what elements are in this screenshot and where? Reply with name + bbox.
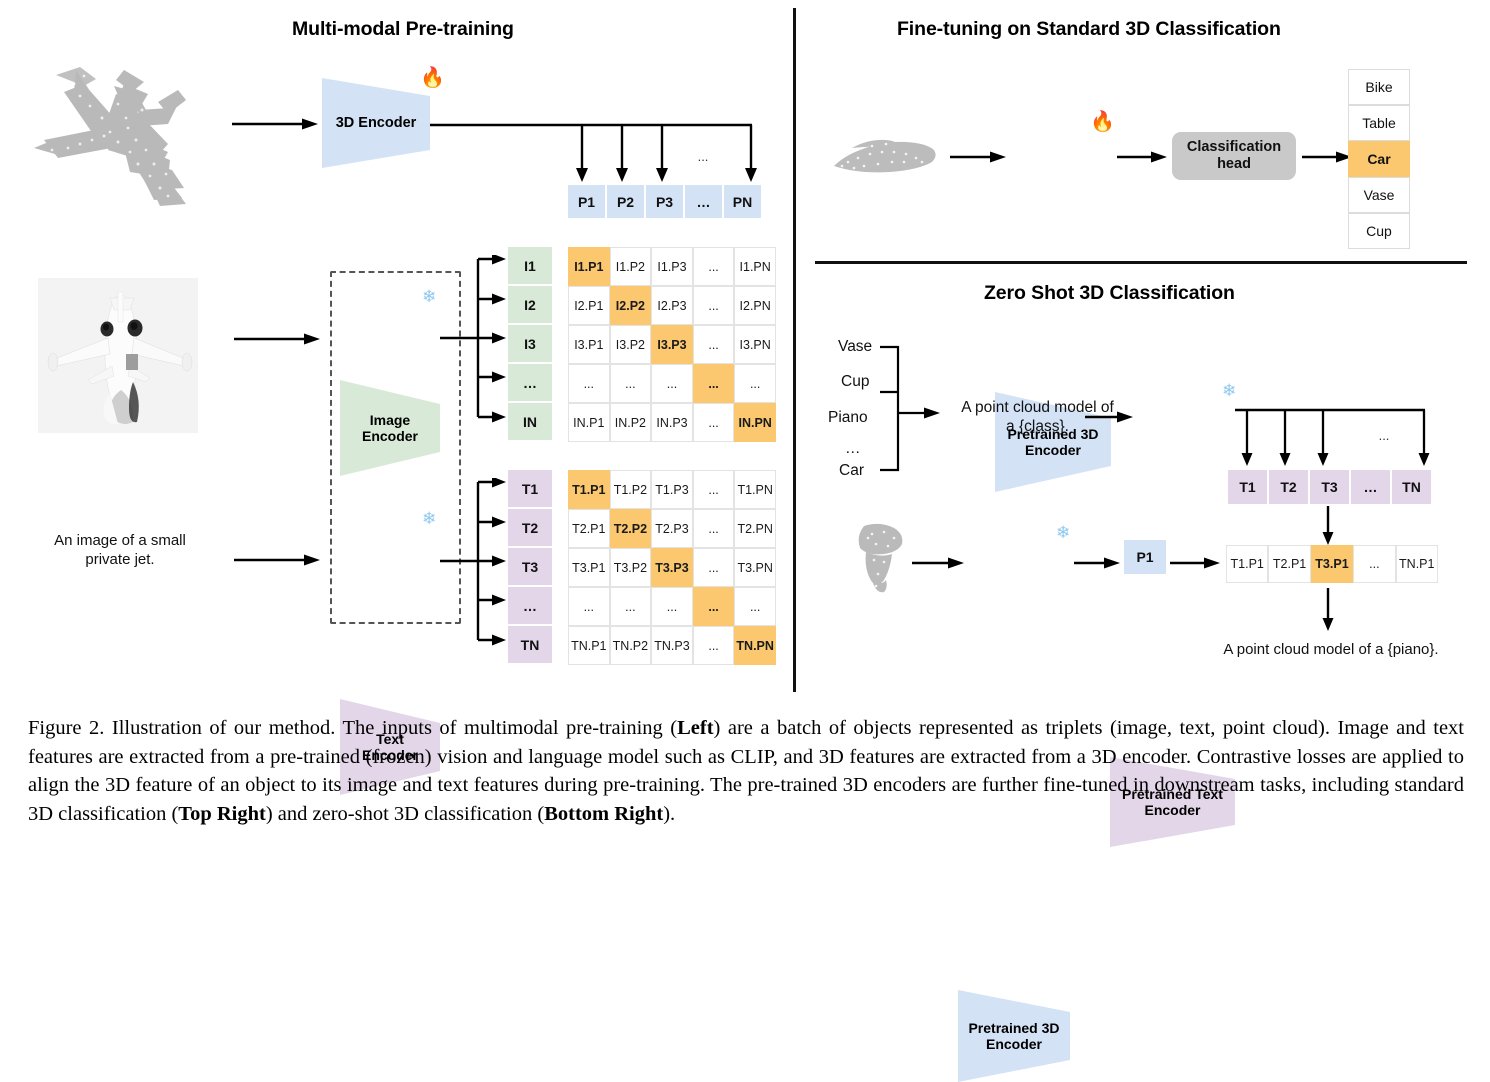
pfeature-cell: P1 (568, 185, 605, 218)
vertical-divider (793, 8, 796, 692)
text-encoder-label-line1: Text (362, 731, 418, 747)
matrix-row: I2.P1I2.P2I2.P3...I2.PN (568, 286, 776, 325)
text-point-similarity-matrix: T1.P1T1.P2T1.P3...T1.PNT2.P1T2.P2T2.P3..… (568, 470, 776, 665)
flame-icon: 🔥 (1090, 112, 1115, 132)
image-similarity-cell: I2.P1 (568, 286, 610, 325)
caption-emphasis: Left (677, 717, 713, 739)
arrow-pointcloud-to-3dencoder (232, 117, 318, 131)
zs-similarity-cell: T1.P1 (1226, 545, 1268, 583)
text-similarity-cell: T3.P1 (568, 548, 610, 587)
text-similarity-cell: T2.PN (734, 509, 776, 548)
matrix-row: T1.P1T1.P2T1.P3...T1.PN (568, 470, 776, 509)
pretrained-3d-encoder-block-zeroshot: Pretrained 3D Encoder (958, 990, 1070, 1082)
matrix-row: ............... (568, 587, 776, 626)
tfeature-cell: T3 (508, 548, 552, 585)
image-similarity-cell: ... (693, 325, 735, 364)
text-similarity-cell: ... (693, 470, 735, 509)
text-similarity-cell: T3.P2 (610, 548, 652, 587)
zs-tfeature-cell: T3 (1310, 470, 1349, 504)
horizontal-divider (815, 261, 1467, 264)
pfeature-cell: PN (724, 185, 761, 218)
piano-point-cloud (846, 520, 916, 596)
image-similarity-cell: ... (693, 247, 735, 286)
classification-output-list[interactable]: BikeTableCarVaseCup (1348, 69, 1410, 249)
image-similarity-cell: ... (610, 364, 652, 403)
text-similarity-cell: T1.PN (734, 470, 776, 509)
image-encoder-label-line1: Image (362, 412, 418, 428)
zs-class-label: … (845, 440, 861, 458)
classification-head-line2: head (1187, 156, 1281, 173)
image-similarity-cell: I2.PN (734, 286, 776, 325)
text-similarity-cell: ... (568, 587, 610, 626)
zs-3d-encoder-line1: Pretrained 3D (968, 1020, 1059, 1036)
airplane-point-cloud (18, 48, 223, 213)
image-similarity-cell: IN.P3 (651, 403, 693, 442)
matrix-row: ............... (568, 364, 776, 403)
image-similarity-cell: ... (693, 403, 735, 442)
image-similarity-cell: I3.PN (734, 325, 776, 364)
class-option[interactable]: Cup (1348, 213, 1410, 249)
ft-encoder-label-line2: Encoder (1007, 442, 1098, 458)
text-similarity-cell: TN.PN (734, 626, 776, 665)
text-similarity-cell: ... (693, 509, 735, 548)
class-option[interactable]: Car (1348, 141, 1410, 177)
text-similarity-cell: ... (651, 587, 693, 626)
zs-text-feature-row: T1 T2 T3 … TN (1228, 470, 1434, 504)
zs-class-label: Cup (841, 373, 869, 391)
zs-class-label: Car (839, 462, 864, 480)
pfeature-ellipsis: ... (690, 148, 716, 164)
text-similarity-cell: T2.P1 (568, 509, 610, 548)
tfeature-cell: T1 (508, 470, 552, 507)
image-similarity-cell: I3.P2 (610, 325, 652, 364)
zs-similarity-cell: TN.P1 (1396, 545, 1438, 583)
matrix-row: IN.P1IN.P2IN.P3...IN.PN (568, 403, 776, 442)
image-similarity-cell: IN.PN (734, 403, 776, 442)
matrix-row: T3.P1T3.P2T3.P3...T3.PN (568, 548, 776, 587)
caption-emphasis: Top Right (178, 803, 266, 825)
image-similarity-cell: I3.P3 (651, 325, 693, 364)
pfeature-cell: P3 (646, 185, 683, 218)
text-similarity-cell: T1.P1 (568, 470, 610, 509)
tfeature-cell: … (508, 587, 552, 624)
arrow-tfeatures-to-similarity (1320, 506, 1336, 546)
zs-similarity-cell: ... (1353, 545, 1395, 583)
image-similarity-cell: ... (568, 364, 610, 403)
zs-tfeature-cell: T2 (1269, 470, 1308, 504)
tfeature-cell: T2 (508, 509, 552, 546)
class-option[interactable]: Vase (1348, 177, 1410, 213)
caption-text: ). (663, 803, 675, 825)
text-similarity-cell: TN.P3 (651, 626, 693, 665)
ifeature-cell: I2 (508, 286, 552, 323)
image-encoder-label-line2: Encoder (362, 428, 418, 444)
zs-text-encoder-line1: Pretrained Text (1122, 786, 1223, 802)
zs-3d-encoder-line2: Encoder (968, 1036, 1059, 1052)
arrow-image-to-imageencoder (234, 332, 320, 346)
ft-encoder-label-line1: Pretrained 3D (1007, 426, 1098, 442)
matrix-row: I3.P1I3.P2I3.P3...I3.PN (568, 325, 776, 364)
classification-head-block: Classification head (1172, 132, 1296, 180)
figure-diagram: Multi-modal Pre-training (0, 0, 1490, 700)
text-similarity-cell: ... (693, 587, 735, 626)
pfeature-cell: P2 (607, 185, 644, 218)
ifeature-cell: … (508, 364, 552, 401)
image-encoder-block: Image Encoder (340, 380, 440, 476)
image-feature-column: I1 I2 I3 … IN (508, 247, 552, 440)
snowflake-icon: ❄ (422, 510, 436, 527)
text-encoder-block: Text Encoder (340, 699, 440, 795)
pretrained-text-encoder-block: Pretrained Text Encoder (1110, 757, 1235, 847)
zs-point-feature: P1 (1124, 540, 1166, 574)
figure-caption: Figure 2. Illustration of our method. Th… (28, 714, 1464, 828)
arrow-car-to-encoder (950, 150, 1006, 164)
arrow-similarity-to-result (1320, 588, 1336, 632)
text-feature-column: T1 T2 T3 … TN (508, 470, 552, 663)
image-similarity-cell: ... (734, 364, 776, 403)
class-option[interactable]: Bike (1348, 69, 1410, 105)
caption-text: ) and zero-shot 3D classification ( (266, 803, 544, 825)
fanout-textencoder-to-tfeatures (1235, 405, 1435, 473)
jet-render-image (38, 278, 198, 433)
text-similarity-cell: T1.P2 (610, 470, 652, 509)
matrix-row: T2.P1T2.P2T2.P3...T2.PN (568, 509, 776, 548)
snowflake-icon: ❄ (1056, 524, 1070, 541)
image-similarity-cell: I1.PN (734, 247, 776, 286)
text-similarity-cell: ... (610, 587, 652, 626)
image-similarity-cell: I2.P3 (651, 286, 693, 325)
pretrained-3d-encoder-block-finetune: Pretrained 3D Encoder (995, 392, 1111, 492)
text-similarity-cell: ... (734, 587, 776, 626)
bottom-right-title: Zero Shot 3D Classification (984, 282, 1235, 305)
ifeature-cell: IN (508, 403, 552, 440)
pfeature-cell: … (685, 185, 722, 218)
image-similarity-cell: ... (693, 364, 735, 403)
text-input-value: An image of a small private jet. (54, 532, 186, 568)
text-similarity-cell: T2.P2 (610, 509, 652, 548)
left-panel-title: Multi-modal Pre-training (292, 18, 514, 41)
image-point-similarity-matrix: I1.P1I1.P2I1.P3...I1.PNI2.P1I2.P2I2.P3..… (568, 247, 776, 442)
classification-head-line1: Classification (1187, 139, 1281, 156)
image-similarity-cell: I3.P1 (568, 325, 610, 364)
zs-tfeature-cell: … (1351, 470, 1390, 504)
arrow-text-to-textencoder (234, 553, 320, 567)
image-similarity-cell: ... (651, 364, 693, 403)
image-similarity-cell: I2.P2 (610, 286, 652, 325)
zs-text-encoder-line2: Encoder (1122, 802, 1223, 818)
zs-tfeature-cell: T1 (1228, 470, 1267, 504)
zs-similarity-cell: T2.P1 (1268, 545, 1310, 583)
zeroshot-result-text: A point cloud model of a {piano}. (1196, 641, 1466, 658)
matrix-row: I1.P1I1.P2I1.P3...I1.PN (568, 247, 776, 286)
zs-tfeature-cell: TN (1392, 470, 1431, 504)
zs-class-label: Vase (838, 338, 872, 356)
encoder-3d-label: 3D Encoder (322, 78, 430, 168)
arrow-encoder-to-head (1117, 150, 1167, 164)
car-point-cloud (828, 132, 938, 180)
image-similarity-cell: I1.P3 (651, 247, 693, 286)
arrow-head-to-classlist (1302, 150, 1352, 164)
image-similarity-cell: IN.P2 (610, 403, 652, 442)
text-similarity-cell: TN.P2 (610, 626, 652, 665)
text-similarity-cell: TN.P1 (568, 626, 610, 665)
text-encoder-label-line2: Encoder (362, 747, 418, 763)
ifeature-cell: I1 (508, 247, 552, 284)
zeroshot-similarity-row: T1.P1T2.P1T3.P1...TN.P1 (1226, 545, 1438, 583)
text-similarity-cell: T3.PN (734, 548, 776, 587)
fanout-text-to-tfeatures (440, 478, 508, 648)
text-similarity-cell: T2.P3 (651, 509, 693, 548)
snowflake-icon: ❄ (422, 288, 436, 305)
text-input-caption: An image of a small private jet. (30, 532, 210, 570)
image-similarity-cell: I1.P2 (610, 247, 652, 286)
image-similarity-cell: IN.P1 (568, 403, 610, 442)
snowflake-icon: ❄ (1222, 382, 1236, 399)
image-similarity-cell: ... (693, 286, 735, 325)
image-similarity-cell: I1.P1 (568, 247, 610, 286)
text-similarity-cell: ... (693, 626, 735, 665)
text-similarity-cell: ... (693, 548, 735, 587)
zs-similarity-cell: T3.P1 (1311, 545, 1353, 583)
encoder-3d-block: 3D Encoder (322, 78, 430, 168)
top-right-title: Fine-tuning on Standard 3D Classificatio… (897, 18, 1281, 41)
arrow-p1-to-similarity (1170, 556, 1220, 570)
fanout-image-to-ifeatures (440, 255, 508, 425)
class-option[interactable]: Table (1348, 105, 1410, 141)
zs-class-label: Piano (828, 409, 868, 427)
zs-tfeature-ellipsis: ... (1372, 428, 1396, 442)
point-feature-row: P1 P2 P3 … PN (568, 185, 761, 218)
text-similarity-cell: T3.P3 (651, 548, 693, 587)
caption-emphasis: Bottom Right (544, 803, 663, 825)
matrix-row: TN.P1TN.P2TN.P3...TN.PN (568, 626, 776, 665)
text-similarity-cell: T1.P3 (651, 470, 693, 509)
arrow-encoder-to-p1 (1074, 556, 1120, 570)
tfeature-cell: TN (508, 626, 552, 663)
arrow-piano-to-encoder (912, 556, 964, 570)
ifeature-cell: I3 (508, 325, 552, 362)
